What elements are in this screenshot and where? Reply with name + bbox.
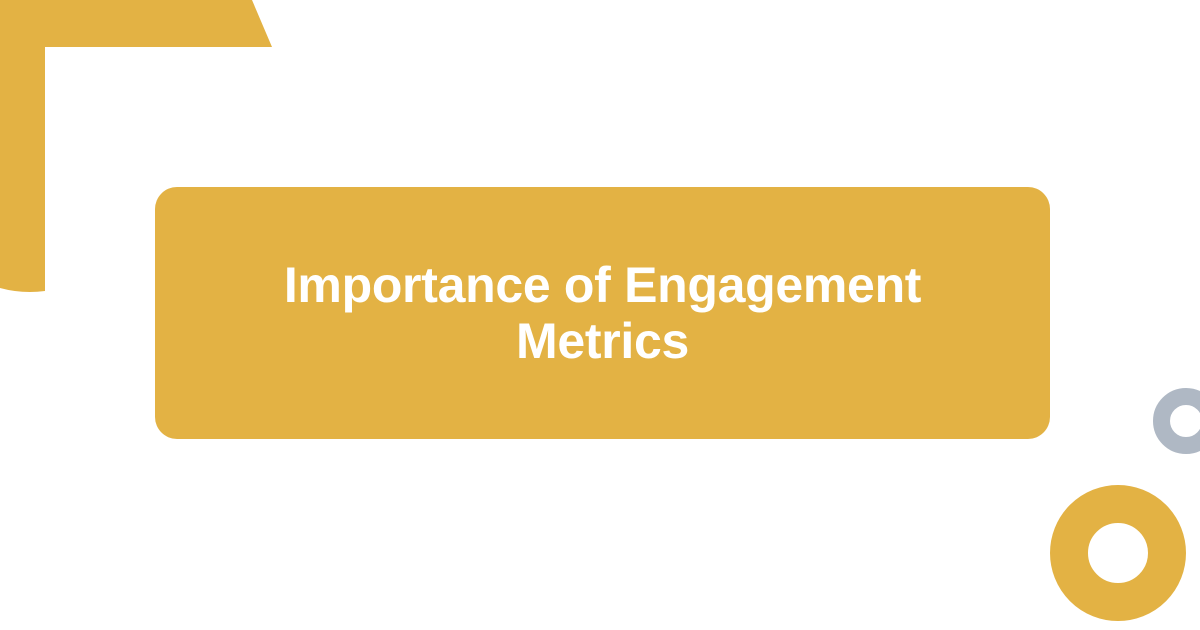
title-card-canvas: Importance of Engagement Metrics — [0, 0, 1200, 630]
yellow-ring-icon — [1050, 485, 1186, 621]
title-card: Importance of Engagement Metrics — [155, 187, 1050, 439]
gray-ring-icon — [1153, 388, 1200, 454]
page-title: Importance of Engagement Metrics — [284, 257, 921, 369]
